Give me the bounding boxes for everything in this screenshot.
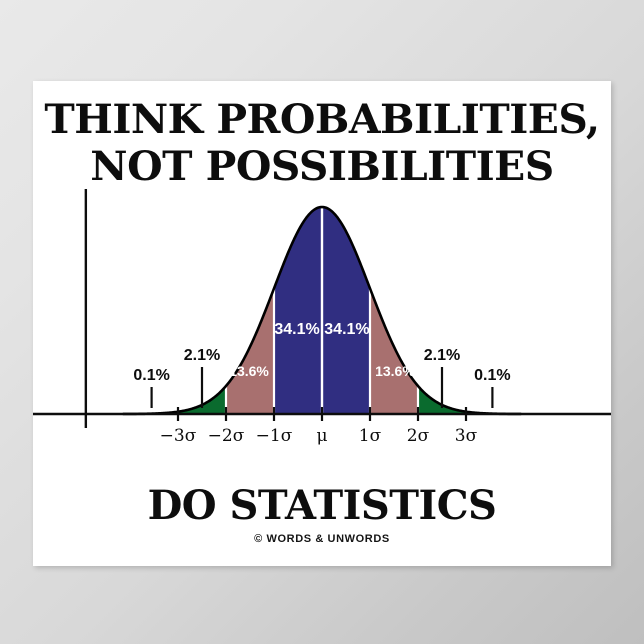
tick-label-0: −3σ (160, 426, 197, 446)
band-right-0to1 (322, 207, 370, 414)
label-left-13p6: 13.6% (229, 363, 269, 379)
tick-label-3: μ (316, 426, 327, 446)
normal-distribution-chart: −3σ−2σ−1σμ1σ2σ3σ 0.1%2.1%2.1%0.1% 13.6%3… (33, 189, 611, 474)
tick-label-5: 2σ (407, 426, 430, 446)
poster-canvas: THINK PROBABILITIES, NOT POSSIBILITIES −… (0, 0, 644, 644)
headline-line-2: NOT POSSIBILITIES (27, 147, 617, 187)
poster-sheet: THINK PROBABILITIES, NOT POSSIBILITIES −… (33, 81, 611, 566)
tagline: DO STATISTICS (33, 486, 611, 526)
credit-line: © WORDS & UNWORDS (33, 533, 611, 545)
callout-right-2p1-text: 2.1% (424, 347, 460, 364)
headline-line-1: THINK PROBABILITIES, (27, 100, 617, 140)
tick-label-6: 3σ (455, 426, 478, 446)
tick-label-1: −2σ (208, 426, 245, 446)
label-right-34p1: 34.1% (324, 321, 369, 338)
chart-svg: −3σ−2σ−1σμ1σ2σ3σ 0.1%2.1%2.1%0.1% 13.6%3… (33, 189, 611, 474)
callout-right-0p1-text: 0.1% (474, 367, 510, 384)
label-right-13p6: 13.6% (375, 363, 415, 379)
band-left-1to0 (274, 207, 322, 414)
tick-label-2: −1σ (256, 426, 293, 446)
label-left-34p1: 34.1% (274, 321, 319, 338)
callout-left-0p1-text: 0.1% (133, 367, 169, 384)
callout-left-2p1-text: 2.1% (184, 347, 220, 364)
tick-label-4: 1σ (359, 426, 382, 446)
